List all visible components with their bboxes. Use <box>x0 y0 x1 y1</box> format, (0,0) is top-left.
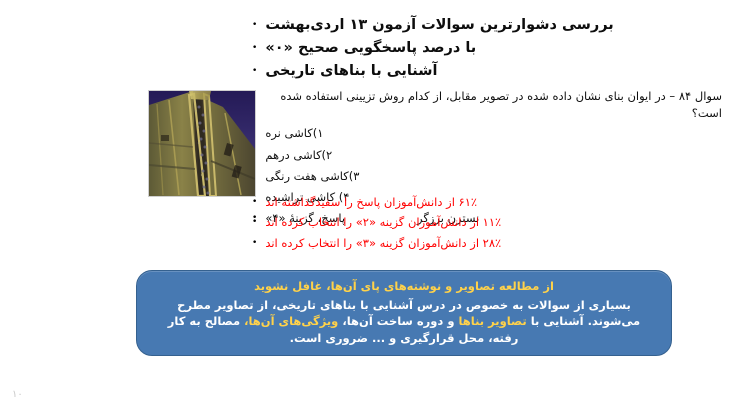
question-prompt-row: • سوال ۸۴ – در ایوان بنای نشان داده شده … <box>252 88 722 121</box>
option-label-2: ۲)کاشی درهم <box>265 147 332 164</box>
bullet-dot-icon: • <box>252 21 257 30</box>
statistic-row-1: • ۶۱٪ از دانش‌آموزان پاسخ را سفیدگذاشته … <box>252 194 722 211</box>
statistic-row-2: • ۱۱٪ از دانش‌آموزان گزینه «۲» را انتخاب… <box>252 214 722 231</box>
statistic-label-2: ۱۱٪ از دانش‌آموزان گزینه «۲» را انتخاب ک… <box>265 214 501 231</box>
historic-building-photo <box>148 90 256 197</box>
callout-body-highlight-1: تصاویر بناها <box>458 314 526 328</box>
heading-label-3: آشنایی با بناهای تاریخی <box>265 62 437 80</box>
heading-bullet-3: • آشنایی با بناهای تاریخی <box>252 62 722 80</box>
page-number: ۱۰ <box>12 389 23 400</box>
option-label-3: ۳)کاشی هفت رنگی <box>265 168 359 185</box>
heading-label-1: بررسی دشوارترین سوالات آزمون ۱۳ اردی‌بهش… <box>265 16 613 34</box>
statistic-label-1: ۶۱٪ از دانش‌آموزان پاسخ را سفیدگذاشته ان… <box>265 194 477 211</box>
callout-body-highlight-2: ویژگی‌های آن‌ها، <box>244 314 338 328</box>
photo-illustration <box>149 91 255 196</box>
option-row-2[interactable]: • ۲)کاشی درهم <box>252 147 722 164</box>
bullet-dot-icon: • <box>252 44 257 53</box>
statistic-label-3: ۲۸٪ از دانش‌آموزان گزینه «۳» را انتخاب ک… <box>265 235 501 252</box>
callout-heading: از مطالعه تصاویر و نوشته‌های پای آن‌ها، … <box>254 279 554 295</box>
heading-bullet-1: • بررسی دشوارترین سوالات آزمون ۱۳ اردی‌ب… <box>252 16 722 34</box>
bullet-dot-icon: • <box>252 198 257 207</box>
statistic-row-3: • ۲۸٪ از دانش‌آموزان گزینه «۳» را انتخاب… <box>252 235 722 252</box>
callout-box: از مطالعه تصاویر و نوشته‌های پای آن‌ها، … <box>136 270 672 356</box>
bullet-dot-icon: • <box>252 218 257 227</box>
callout-body-part-3: و دوره ساخت آن‌ها، <box>342 314 454 328</box>
option-label-1: ۱)کاشی نره <box>265 125 323 142</box>
bullet-dot-icon: • <box>252 67 257 76</box>
callout-body: بسیاری از سوالات به خصوص در درس آشنایی ب… <box>163 297 645 347</box>
option-row-3[interactable]: • ۳)کاشی هفت رنگی <box>252 168 722 185</box>
heading-bullet-2: • با درصد پاسخگویی صحیح «۰» <box>252 39 722 57</box>
headings-group: • بررسی دشوارترین سوالات آزمون ۱۳ اردی‌ب… <box>252 16 722 85</box>
slide-canvas: • بررسی دشوارترین سوالات آزمون ۱۳ اردی‌ب… <box>0 0 738 416</box>
bullet-dot-icon: • <box>252 239 257 248</box>
option-row-1[interactable]: • ۱)کاشی نره <box>252 125 722 142</box>
heading-label-2: با درصد پاسخگویی صحیح «۰» <box>265 39 476 57</box>
statistics-group: • ۶۱٪ از دانش‌آموزان پاسخ را سفیدگذاشته … <box>252 194 722 255</box>
question-prompt: سوال ۸۴ – در ایوان بنای نشان داده شده در… <box>265 88 722 121</box>
